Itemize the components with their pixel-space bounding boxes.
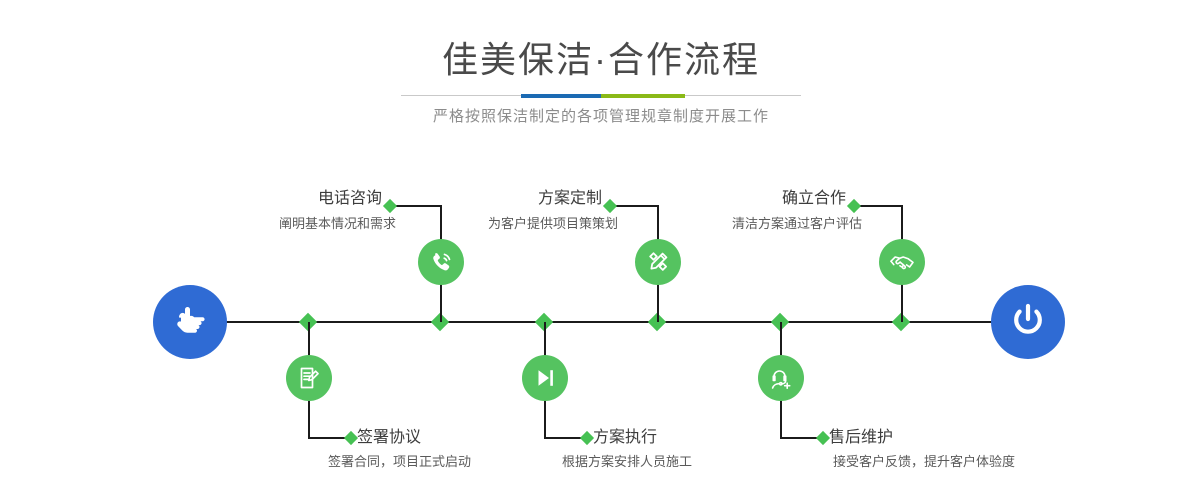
- branch-tip-top-1: [383, 199, 397, 213]
- branch-tip-top-2: [603, 199, 617, 213]
- branch-connector-top-1-horizontal: [390, 205, 442, 207]
- page-subtitle: 严格按照保洁制定的各项管理规章制度开展工作: [0, 105, 1202, 129]
- step-icon-phone-consultation[interactable]: [418, 239, 464, 285]
- step-desc-plan-execution: 根据方案安排人员施工: [562, 452, 692, 472]
- step-label-after-sales: 售后维护: [829, 427, 893, 449]
- title-divider: [401, 94, 801, 98]
- handshake-icon: [888, 248, 916, 276]
- power-icon: [1007, 299, 1049, 346]
- page-title: 佳美保洁·合作流程: [0, 38, 1202, 82]
- step-label-plan-customization: 方案定制: [538, 188, 602, 210]
- step-icon-after-sales[interactable]: [758, 355, 804, 401]
- step-icon-plan-customization[interactable]: [635, 239, 681, 285]
- step-desc-establish-cooperation: 清洁方案通过客户评估: [732, 214, 862, 234]
- divider-blue-segment: [521, 94, 601, 98]
- flowchart-canvas: 佳美保洁·合作流程 严格按照保洁制定的各项管理规章制度开展工作: [0, 0, 1202, 502]
- step-label-plan-execution: 方案执行: [593, 427, 657, 449]
- step-label-establish-cooperation: 确立合作: [782, 188, 846, 210]
- start-node[interactable]: [153, 285, 227, 359]
- divider-green-segment: [601, 94, 685, 98]
- step-icon-establish-cooperation[interactable]: [879, 239, 925, 285]
- step-icon-sign-agreement[interactable]: [286, 355, 332, 401]
- pencil-edit-icon: [644, 248, 672, 276]
- phone-call-icon: [427, 248, 455, 276]
- pointing-hand-icon: [170, 300, 210, 345]
- customer-service-add-icon: [767, 364, 795, 392]
- branch-tip-bottom-1: [344, 431, 358, 445]
- step-desc-phone-consultation: 阐明基本情况和需求: [279, 214, 396, 234]
- play-skip-icon: [531, 364, 559, 392]
- document-sign-icon: [295, 364, 323, 392]
- step-icon-plan-execution[interactable]: [522, 355, 568, 401]
- step-desc-sign-agreement: 签署合同，项目正式启动: [328, 452, 471, 472]
- branch-tip-top-3: [847, 199, 861, 213]
- step-desc-plan-customization: 为客户提供项目策策划: [488, 214, 618, 234]
- step-desc-after-sales: 接受客户反馈，提升客户体验度: [833, 452, 1015, 472]
- end-node[interactable]: [991, 285, 1065, 359]
- branch-tip-bottom-2: [580, 431, 594, 445]
- step-label-sign-agreement: 签署协议: [357, 427, 421, 449]
- step-label-phone-consultation: 电话咨询: [318, 188, 382, 210]
- branch-tip-bottom-3: [816, 431, 830, 445]
